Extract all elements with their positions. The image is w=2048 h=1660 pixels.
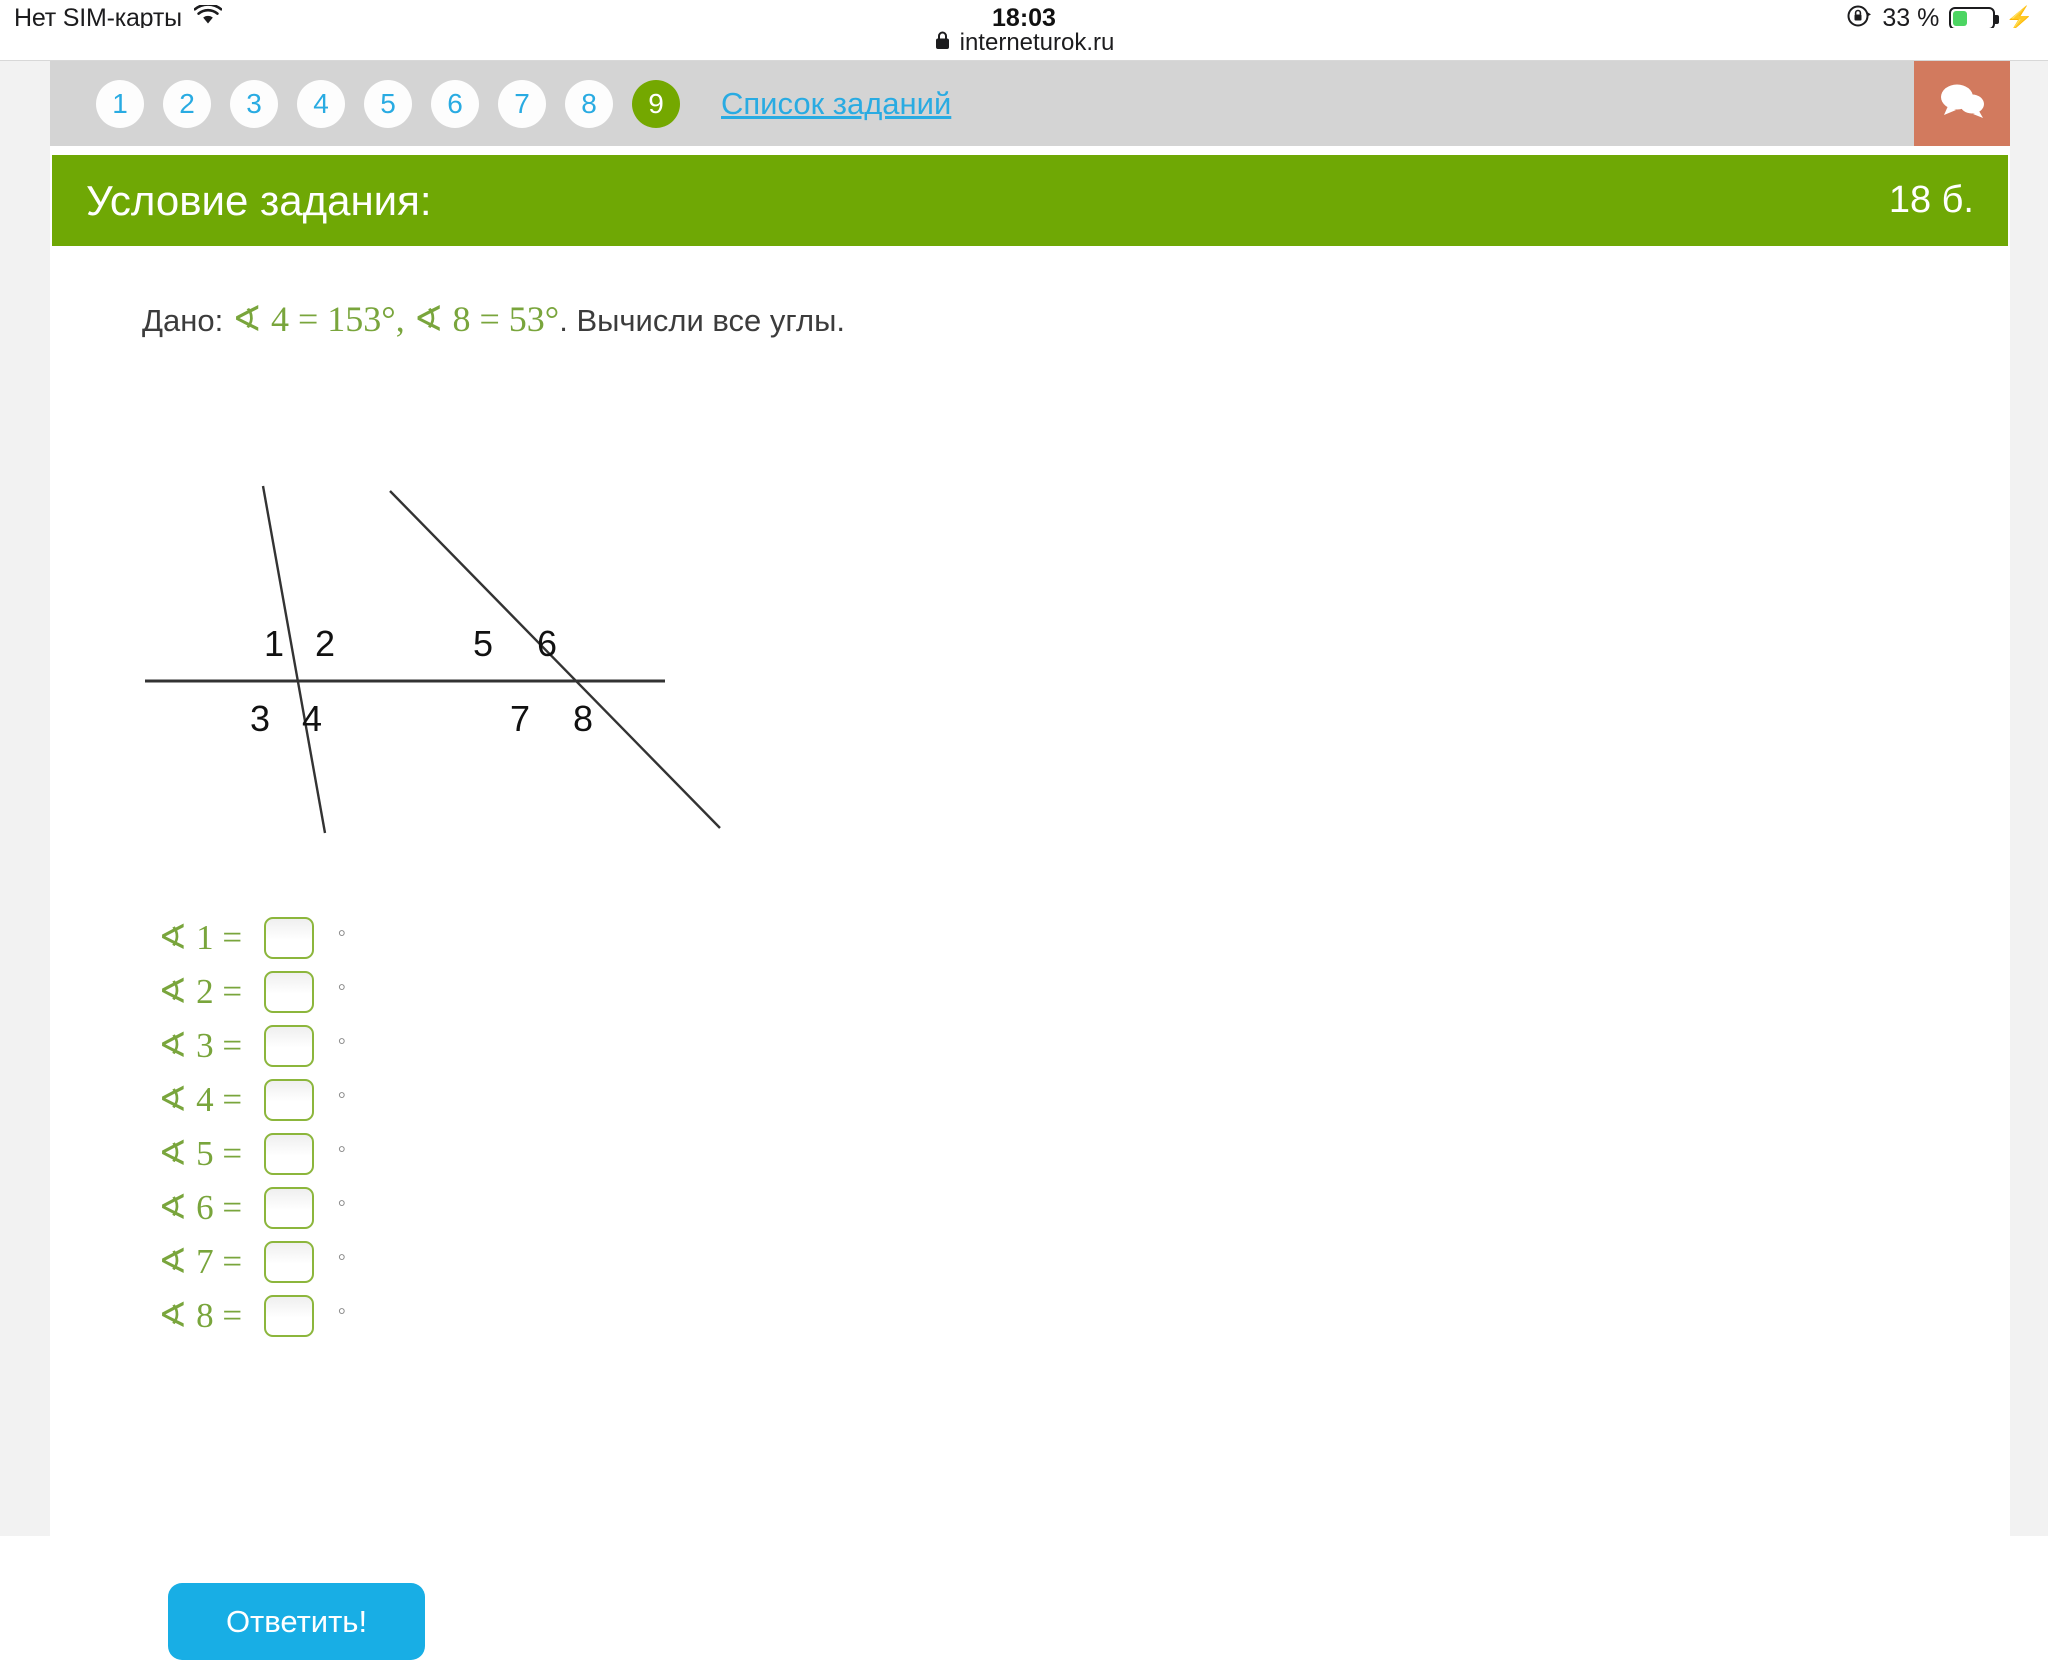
answer-row-4: ∢ 4 = ° [158,1073,346,1127]
points-badge: 18 б. [1889,179,1974,222]
task-nav-strip: 1 2 3 4 5 6 7 8 9 Список заданий [50,61,2010,146]
answer-input-6[interactable] [264,1187,314,1229]
given-angle-8: ∢ 8 = 53° [413,299,559,339]
statement-prefix: Дано: [142,303,223,338]
task-number-5[interactable]: 5 [364,80,412,128]
answer-label-8: ∢ 8 = [158,1296,258,1336]
degree-symbol-1: ° [338,927,346,949]
answer-label-6: ∢ 6 = [158,1188,258,1228]
url-label: interneturok.ru [960,29,1115,57]
angle-label-7: 7 [510,698,530,739]
page-title: Условие задания: [86,177,432,225]
answer-row-3: ∢ 3 = ° [158,1019,346,1073]
task-number-7[interactable]: 7 [498,80,546,128]
answer-list: ∢ 1 = ° ∢ 2 = ° ∢ 3 = ° ∢ 4 = ° ∢ 5 = [158,911,346,1343]
degree-symbol-3: ° [338,1035,346,1057]
browser-url-bar[interactable]: interneturok.ru [0,28,2048,58]
lightning-bolt-icon: ⚡ [2005,7,2034,30]
chat-button[interactable] [1914,61,2010,146]
angle-label-6: 6 [537,623,557,664]
task-number-2[interactable]: 2 [163,80,211,128]
angle-label-2: 2 [315,623,335,664]
lock-icon [934,30,951,56]
answer-label-2: ∢ 2 = [158,972,258,1012]
answer-label-1: ∢ 1 = [158,918,258,958]
answer-row-5: ∢ 5 = ° [158,1127,346,1181]
answer-input-1[interactable] [264,917,314,959]
task-number-list: 1 2 3 4 5 6 7 8 9 Список заданий [96,61,951,146]
degree-symbol-6: ° [338,1197,346,1219]
answer-label-3: ∢ 3 = [158,1026,258,1066]
answer-row-8: ∢ 8 = ° [158,1289,346,1343]
degree-symbol-4: ° [338,1089,346,1111]
task-card: Условие задания: 18 б. Дано: ∢ 4 = 153°,… [50,146,2010,1537]
chat-bubbles-icon [1935,78,1989,129]
task-header: Условие задания: 18 б. [52,155,2008,246]
task-number-1[interactable]: 1 [96,80,144,128]
answer-label-7: ∢ 7 = [158,1242,258,1282]
degree-symbol-2: ° [338,981,346,1003]
angle-label-4: 4 [302,698,322,739]
task-number-9[interactable]: 9 [632,80,680,128]
task-number-8[interactable]: 8 [565,80,613,128]
given-angle-4: ∢ 4 = 153°, [232,299,405,339]
task-number-4[interactable]: 4 [297,80,345,128]
answer-row-7: ∢ 7 = ° [158,1235,346,1289]
task-number-6[interactable]: 6 [431,80,479,128]
angle-label-5: 5 [473,623,493,664]
answer-row-2: ∢ 2 = ° [158,965,346,1019]
answer-input-8[interactable] [264,1295,314,1337]
answer-row-1: ∢ 1 = ° [158,911,346,965]
battery-fill [1953,11,1967,26]
degree-symbol-5: ° [338,1143,346,1165]
answer-label-4: ∢ 4 = [158,1080,258,1120]
answer-input-5[interactable] [264,1133,314,1175]
answer-input-2[interactable] [264,971,314,1013]
answer-input-7[interactable] [264,1241,314,1283]
statement-suffix: . Вычисли все углы. [559,303,845,338]
answer-input-4[interactable] [264,1079,314,1121]
task-statement: Дано: ∢ 4 = 153°, ∢ 8 = 53°. Вычисли все… [142,298,2010,340]
answer-input-3[interactable] [264,1025,314,1067]
angle-label-1: 1 [264,623,284,664]
battery-icon [1949,7,1995,30]
angle-label-8: 8 [573,698,593,739]
two-transversals-angle-diagram: 1 2 3 4 5 6 7 8 [145,476,745,846]
task-list-link[interactable]: Список заданий [721,86,951,122]
degree-symbol-8: ° [338,1305,346,1327]
angle-label-3: 3 [250,698,270,739]
answer-label-5: ∢ 5 = [158,1134,258,1174]
degree-symbol-7: ° [338,1251,346,1273]
submit-answer-button[interactable]: Ответить! [168,1583,425,1660]
answer-row-6: ∢ 6 = ° [158,1181,346,1235]
browser-page: 1 2 3 4 5 6 7 8 9 Список заданий [0,60,2048,1536]
task-number-3[interactable]: 3 [230,80,278,128]
